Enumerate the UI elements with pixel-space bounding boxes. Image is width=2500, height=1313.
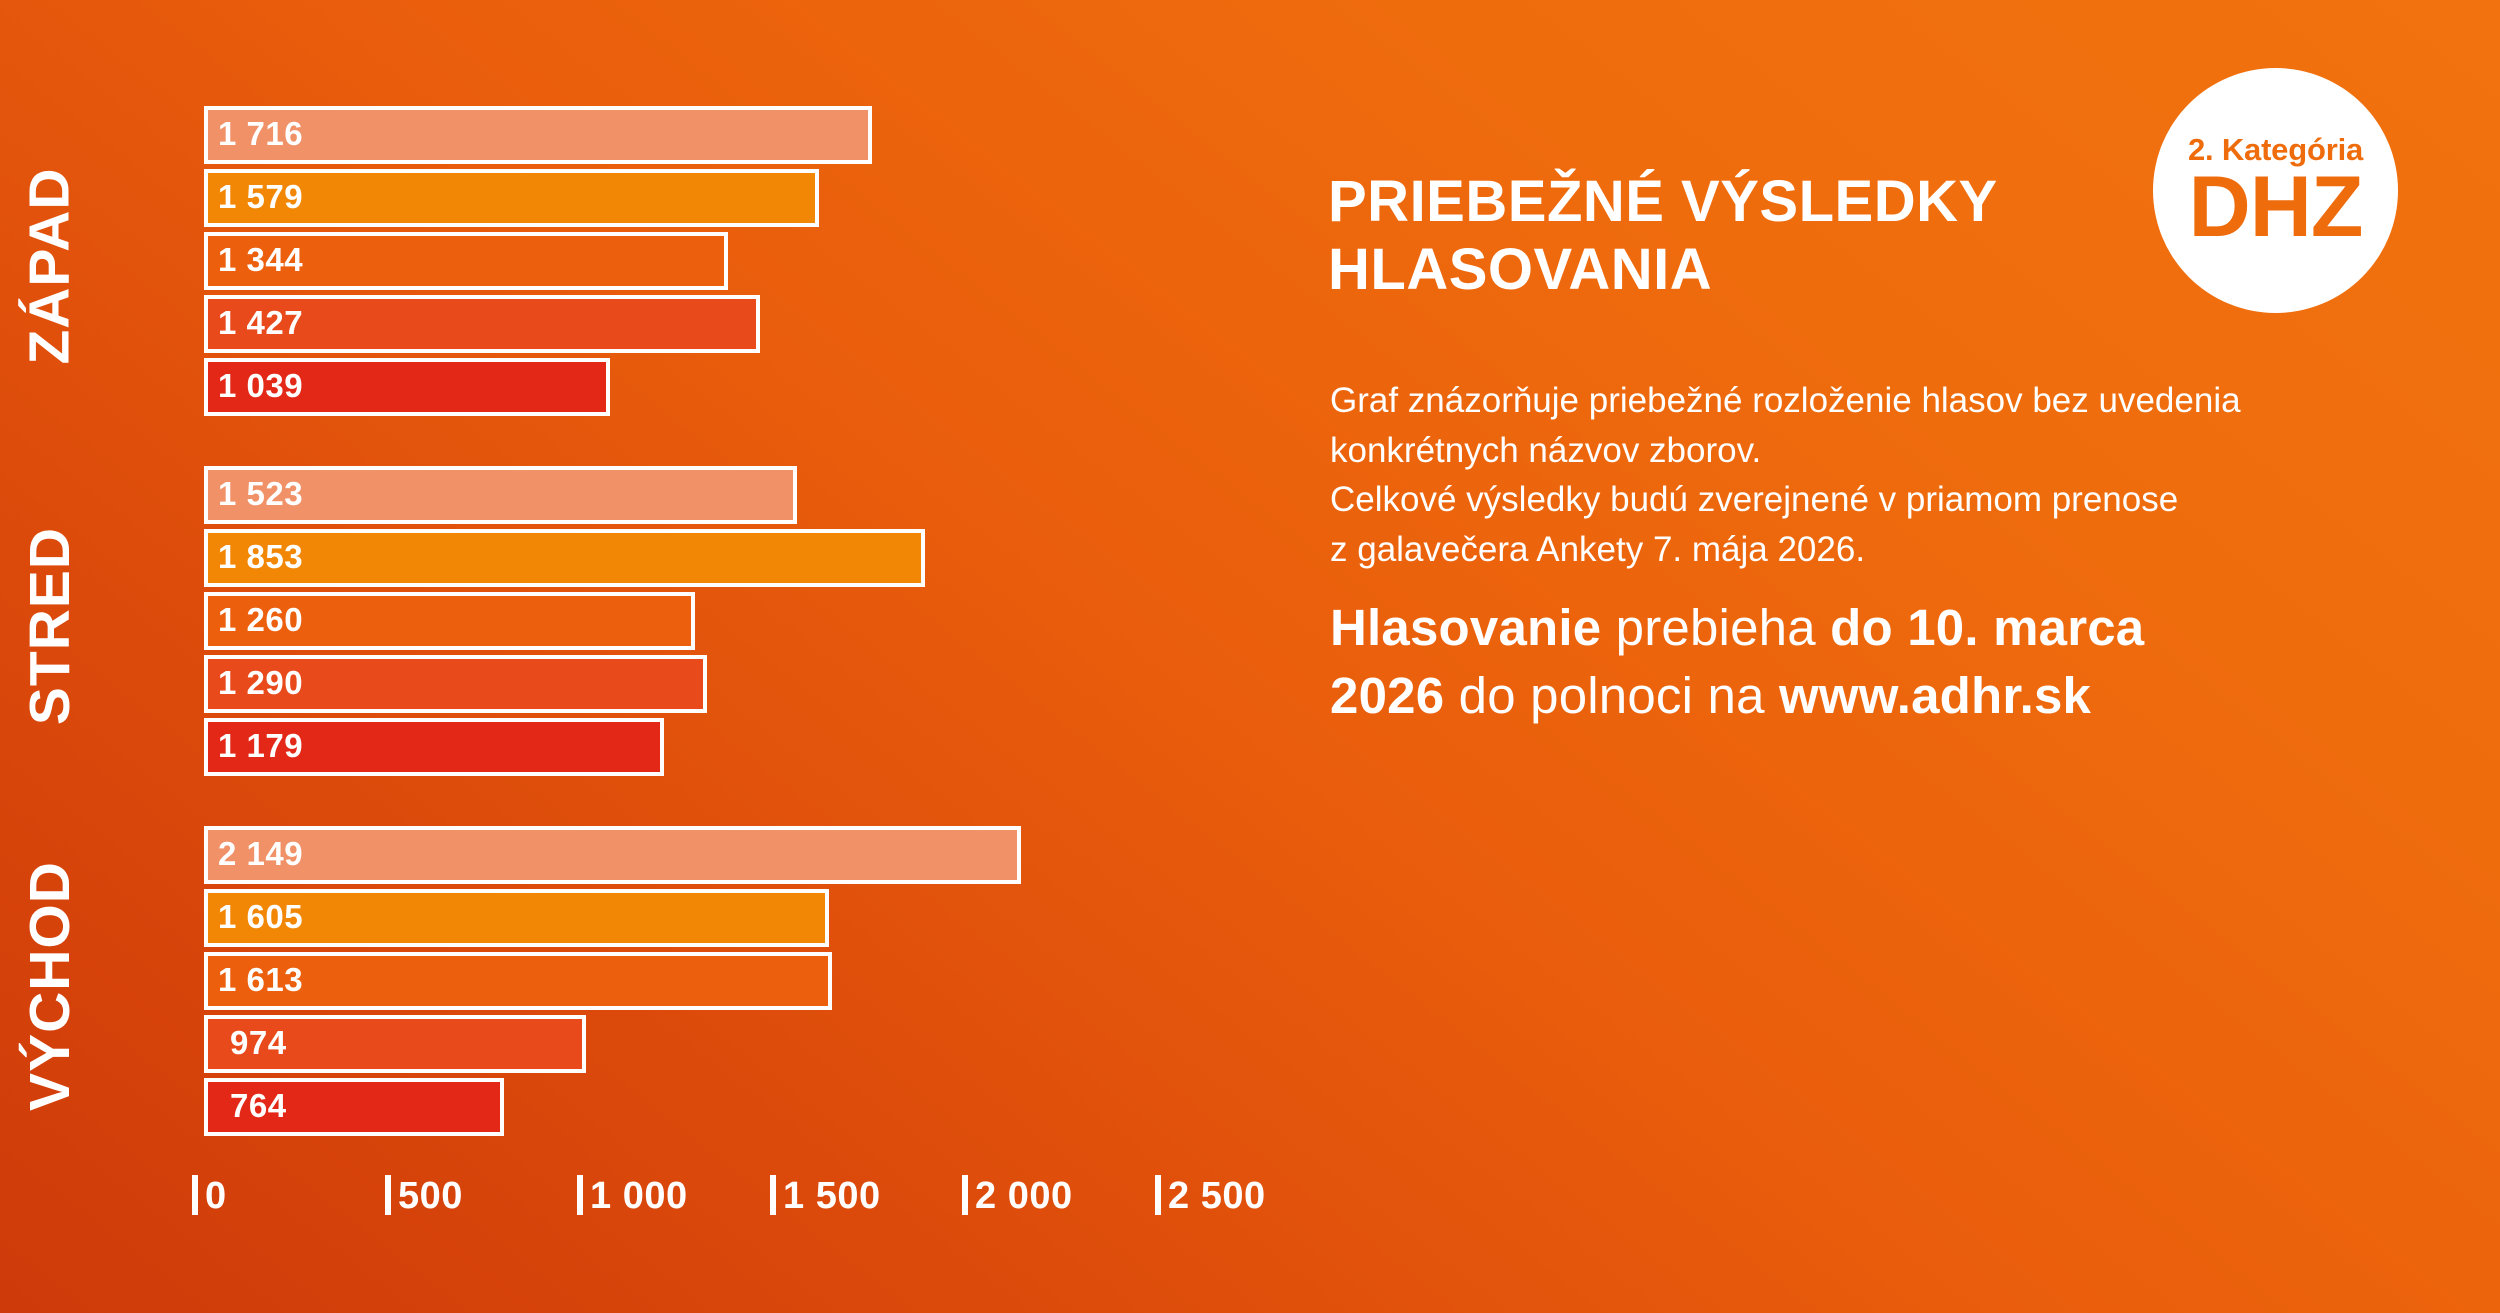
bar-value: 1 579 [218,178,303,216]
chart-group-stred: STRED 1 523 1 853 1 260 [0,466,1360,786]
bar-value: 2 149 [218,835,303,873]
description-line-3: Celkové výsledky budú zverejnené v priam… [1330,475,2420,525]
bar-stred-1: 1 523 [208,466,797,524]
cta-deadline: do 10. marca [1830,599,2144,656]
group-bars-zapad: 1 716 1 579 1 344 1 427 [208,106,1360,426]
axis-tick-2000: 2 000 [962,1175,1073,1218]
cta-voting-word: Hlasovanie [1330,599,1601,656]
bar-value: 1 344 [218,241,303,279]
bar-value: 1 613 [218,961,303,999]
tick-mark-icon [385,1175,391,1215]
bar-row: 1 613 [208,952,832,1010]
bar-value: 1 716 [218,115,303,153]
bar-zapad-3: 1 344 [208,232,728,290]
bar-row: 1 290 [208,655,707,713]
bar-row: 1 260 [208,592,695,650]
chart-group-vychod: VÝCHOD 2 149 1 605 1 613 [0,826,1360,1146]
bar-value: 1 260 [218,601,303,639]
bar-row: 1 716 [208,106,872,164]
bar-stred-3: 1 260 [208,592,695,650]
tick-mark-icon [192,1175,198,1215]
bar-row: 1 427 [208,295,760,353]
bar-stred-2: 1 853 [208,529,925,587]
headline-line-2: HLASOVANIA [1328,236,2118,304]
description-text: Graf znázorňuje priebežné rozloženie hla… [1330,376,2420,575]
bar-stred-5: 1 179 [208,718,664,776]
tick-mark-icon [577,1175,583,1215]
bar-row: 1 344 [208,232,728,290]
group-label-zapad: ZÁPAD [0,106,100,426]
call-to-action: Hlasovanie prebieha do 10. marca 2026 do… [1330,594,2440,730]
info-panel: PRIEBEŽNÉ VÝSLEDKY HLASOVANIA 2. Kategór… [1328,0,2500,1313]
tick-mark-icon [770,1175,776,1215]
bar-vychod-2: 1 605 [208,889,829,947]
bar-zapad-4: 1 427 [208,295,760,353]
bar-row: 1 179 [208,718,664,776]
axis-tick-1000: 1 000 [577,1175,688,1218]
bar-value: 1 853 [218,538,303,576]
axis-tick-0: 0 [192,1175,227,1218]
chart-group-zapad: ZÁPAD 1 716 1 579 1 344 [0,106,1360,426]
axis-tick-1500: 1 500 [770,1175,881,1218]
bar-row: 764 [208,1078,504,1136]
bar-row: 2 149 [208,826,1021,884]
bar-vychod-5: 764 [208,1078,504,1136]
bar-value: 1 605 [218,898,303,936]
page-title: PRIEBEŽNÉ VÝSLEDKY HLASOVANIA [1328,168,2118,305]
axis-tick-2500: 2 500 [1155,1175,1266,1218]
bar-vychod-1: 2 149 [208,826,1021,884]
group-label-stred: STRED [0,466,100,786]
infographic-poster: ZÁPAD 1 716 1 579 1 344 [0,0,2500,1313]
group-label-vychod: VÝCHOD [0,826,100,1146]
bar-row: 1 523 [208,466,797,524]
description-line-4: z galavečera Ankety 7. mája 2026. [1330,525,2420,575]
axis-tick-500: 500 [385,1175,463,1218]
bar-row: 1 039 [208,358,610,416]
bar-zapad-5: 1 039 [208,358,610,416]
bar-value: 1 523 [218,475,303,513]
description-line-2: konkrétnych názvov zborov. [1330,426,2420,476]
bar-value: 1 039 [218,367,303,405]
bar-value: 974 [230,1024,287,1062]
bar-zapad-2: 1 579 [208,169,819,227]
tick-mark-icon [962,1175,968,1215]
bar-vychod-3: 1 613 [208,952,832,1010]
group-bars-stred: 1 523 1 853 1 260 1 290 [208,466,1360,786]
bar-stred-4: 1 290 [208,655,707,713]
bar-row: 1 605 [208,889,829,947]
cta-website: www.adhr.sk [1779,667,2091,724]
bar-value: 1 290 [218,664,303,702]
bar-zapad-1: 1 716 [208,106,872,164]
tick-mark-icon [1155,1175,1161,1215]
bar-row: 1 579 [208,169,819,227]
cta-year: 2026 [1330,667,1444,724]
group-bars-vychod: 2 149 1 605 1 613 974 [208,826,1360,1146]
bar-value: 1 179 [218,727,303,765]
bar-row: 974 [208,1015,586,1073]
description-line-1: Graf znázorňuje priebežné rozloženie hla… [1330,376,2420,426]
category-badge: 2. Kategória DHZ [2153,68,2398,313]
cta-text-1: prebieha [1601,599,1830,656]
bar-value: 1 427 [218,304,303,342]
badge-main-label: DHZ [2189,164,2363,250]
headline-line-1: PRIEBEŽNÉ VÝSLEDKY [1328,168,2118,236]
cta-text-2: do polnoci na [1444,667,1779,724]
bar-vychod-4: 974 [208,1015,586,1073]
bar-value: 764 [230,1087,287,1125]
bar-row: 1 853 [208,529,925,587]
votes-bar-chart: ZÁPAD 1 716 1 579 1 344 [0,0,1360,1313]
